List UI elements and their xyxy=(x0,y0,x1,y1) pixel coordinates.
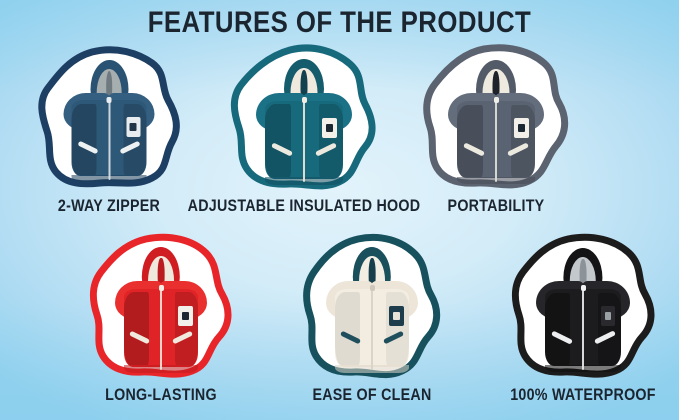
feature-card-portability[interactable]: PORTABILITY xyxy=(420,44,572,192)
feature-card-long-lasting[interactable]: LONG-LASTING xyxy=(86,233,236,381)
feature-card-two-way-zipper[interactable]: 2-WAY ZIPPER xyxy=(34,44,184,192)
jacket-image-adjustable-insulated-hood xyxy=(254,59,354,185)
feature-label-waterproof: 100% WATERPROOF xyxy=(510,385,656,405)
feature-label-ease-of-clean: EASE OF CLEAN xyxy=(312,385,431,405)
feature-card-waterproof[interactable]: 100% WATERPROOF xyxy=(508,233,658,381)
jacket-image-two-way-zipper xyxy=(62,60,157,182)
feature-label-two-way-zipper: 2-WAY ZIPPER xyxy=(58,196,160,216)
jacket-image-portability xyxy=(446,60,546,184)
infographic-canvas: FEATURES OF THE PRODUCT xyxy=(0,0,679,420)
page-title: FEATURES OF THE PRODUCT xyxy=(48,6,632,40)
jacket-image-ease-of-clean xyxy=(324,247,420,373)
feature-card-ease-of-clean[interactable]: EASE OF CLEAN xyxy=(300,233,444,381)
feature-label-long-lasting: LONG-LASTING xyxy=(105,385,217,405)
jacket-image-waterproof xyxy=(534,248,632,372)
feature-label-adjustable-insulated-hood: ADJUSTABLE INSULATED HOOD xyxy=(188,196,421,216)
feature-label-portability: PORTABILITY xyxy=(448,196,545,216)
feature-card-adjustable-insulated-hood[interactable]: ADJUSTABLE INSULATED HOOD xyxy=(228,44,380,192)
jacket-image-long-lasting xyxy=(113,247,209,373)
feature-grid: 2-WAY ZIPPER xyxy=(0,0,679,420)
